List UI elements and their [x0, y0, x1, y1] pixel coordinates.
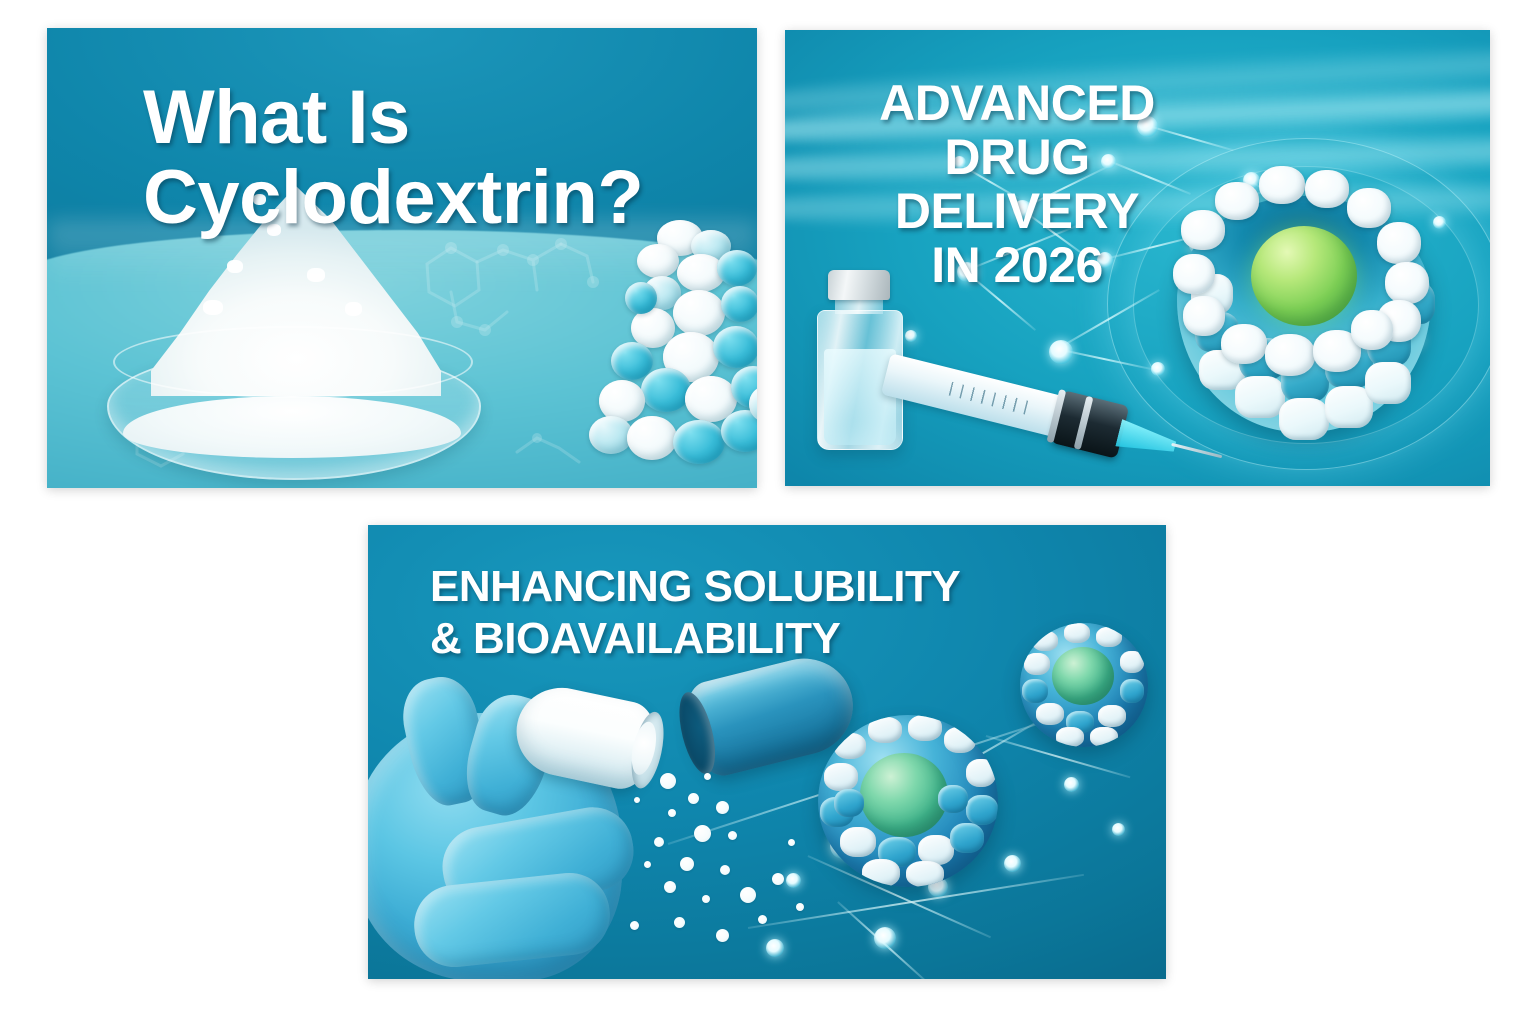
- panel-enhancing-solubility[interactable]: ENHANCING SOLUBILITY & BIOAVAILABILITY: [368, 525, 1166, 979]
- cyclodextrin-bowl: [1155, 162, 1455, 444]
- petri-dish-rim: [113, 326, 473, 398]
- vial-neck: [835, 298, 883, 314]
- petri-dish: [107, 320, 477, 480]
- cyclodextrin-sphere-large: [818, 715, 998, 887]
- panel-what-is-cyclodextrin[interactable]: What Is Cyclodextrin?: [47, 28, 757, 488]
- cyclodextrin-sphere-small: [1020, 623, 1148, 747]
- panel-2-title: ADVANCED DRUG DELIVERY IN 2026: [847, 76, 1187, 292]
- image-collage: What Is Cyclodextrin?: [0, 0, 1536, 1024]
- panel-1-title: What Is Cyclodextrin?: [143, 78, 643, 238]
- guest-molecule: [1251, 226, 1357, 326]
- panel-advanced-drug-delivery[interactable]: ADVANCED DRUG DELIVERY IN 2026: [785, 30, 1490, 486]
- pill-pyramid: [581, 220, 757, 470]
- panel-3-title: ENHANCING SOLUBILITY & BIOAVAILABILITY: [430, 561, 960, 665]
